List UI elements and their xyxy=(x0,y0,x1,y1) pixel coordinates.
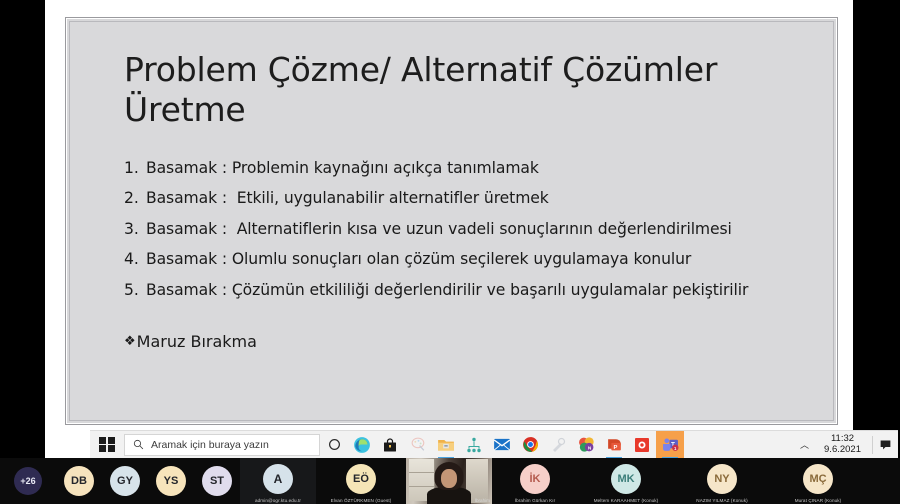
tool-icon xyxy=(550,437,566,453)
participant-name: İbrahim xyxy=(475,498,490,503)
step-text: Basamak : Problemin kaynağını açıkça tan… xyxy=(146,161,539,177)
step-text: Basamak : Olumlu sonuçları olan çözüm se… xyxy=(146,252,691,268)
powerpoint-icon: P xyxy=(606,436,623,453)
participant-tile[interactable]: NY NAZIM YILMAZ (Konuk) xyxy=(674,458,770,504)
search-placeholder: Aramak için buraya yazın xyxy=(151,439,269,451)
mail-icon xyxy=(493,437,511,452)
shared-content-stage: Problem Çözme/ Alternatif Çözümler Üretm… xyxy=(45,0,853,458)
store-icon xyxy=(382,437,398,453)
participant-name: Meltem KARAAHMET (Konuk) xyxy=(578,498,674,503)
list-item: 5. Basamak : Çözümün etkililiği değerlen… xyxy=(124,283,799,299)
step-number: 2. xyxy=(124,191,146,207)
step-number: 1. xyxy=(124,161,146,177)
paint-icon xyxy=(410,436,427,453)
step-number: 3. xyxy=(124,222,146,238)
tray-divider xyxy=(872,436,873,454)
participant-tile[interactable]: YS xyxy=(148,458,194,504)
notification-icon[interactable] xyxy=(879,438,892,451)
slide-content: Problem Çözme/ Alternatif Çözümler Üretm… xyxy=(69,21,834,421)
taskbar-item-recorder[interactable] xyxy=(628,431,656,459)
step-text: Basamak : Alternatiflerin kısa ve uzun v… xyxy=(146,222,732,238)
record-app-icon xyxy=(634,437,650,453)
avatar: GY xyxy=(110,466,140,496)
participant-name: Murat ÇINAR (Konuk) xyxy=(770,498,866,503)
taskbar-item-file-explorer[interactable] xyxy=(432,431,460,459)
slide-footer-item: ❖ Maruz Bırakma xyxy=(124,332,799,351)
avatar: EÖ xyxy=(346,464,376,494)
step-number: 5. xyxy=(124,283,146,299)
participant-tile[interactable]: İK İbrahim Gürkan Kır xyxy=(492,458,578,504)
taskbar-item-org-chart[interactable] xyxy=(460,431,488,459)
list-item: 3. Basamak : Alternatiflerin kısa ve uzu… xyxy=(124,222,799,238)
org-chart-icon xyxy=(466,437,482,453)
clock-date: 9.6.2021 xyxy=(824,445,861,456)
cortana-icon xyxy=(328,438,341,451)
participant-name: İbrahim Gürkan Kır xyxy=(492,498,578,503)
participant-tile[interactable]: GY xyxy=(102,458,148,504)
start-button[interactable] xyxy=(90,431,124,459)
diamond-bullet-icon: ❖ xyxy=(124,335,136,348)
windows-logo-icon xyxy=(99,437,115,453)
teams-icon: T 1 xyxy=(662,436,679,453)
clock-time: 11:32 xyxy=(824,434,861,445)
onenote-icon: N xyxy=(578,436,595,453)
taskbar-item-powerpoint[interactable]: P xyxy=(600,431,628,459)
edge-icon xyxy=(353,436,371,454)
participant-name: Elvan ÖZTÜRKMEN (Guest) xyxy=(316,498,406,503)
taskbar-item-teams[interactable]: T 1 xyxy=(656,431,684,459)
taskbar-item-mail[interactable] xyxy=(488,431,516,459)
participant-tile[interactable]: A admin@ogr.ktu.edu.tr xyxy=(240,458,316,504)
avatar: MÇ xyxy=(803,464,833,494)
clock[interactable]: 11:32 9.6.2021 xyxy=(819,434,866,455)
powerpoint-slide[interactable]: Problem Çözme/ Alternatif Çözümler Üretm… xyxy=(65,17,838,425)
taskbar-item-chrome[interactable] xyxy=(516,431,544,459)
taskbar-item-tool[interactable] xyxy=(544,431,572,459)
slide-step-list: 1. Basamak : Problemin kaynağını açıkça … xyxy=(124,161,799,299)
slide-footer-text: Maruz Bırakma xyxy=(137,332,257,351)
participant-name: NAZIM YILMAZ (Konuk) xyxy=(674,498,770,503)
svg-text:P: P xyxy=(613,445,617,451)
taskbar-item-onenote[interactable]: N xyxy=(572,431,600,459)
participant-tile[interactable]: DB xyxy=(56,458,102,504)
avatar: +26 xyxy=(14,467,42,495)
avatar: DB xyxy=(64,466,94,496)
system-tray: ︿ 11:32 9.6.2021 xyxy=(796,431,898,459)
step-text: Basamak : Etkili, uygulanabilir alternat… xyxy=(146,191,549,207)
avatar: A xyxy=(263,464,293,494)
list-item: 2. Basamak : Etkili, uygulanabilir alter… xyxy=(124,191,799,207)
participant-strip: +26 DB GY YS ST A admin@ogr.ktu.edu.tr E… xyxy=(0,458,900,504)
video-person-face xyxy=(441,469,457,488)
participant-video-tile[interactable]: İbrahim xyxy=(406,458,492,504)
avatar: NY xyxy=(707,464,737,494)
taskbar-item-store[interactable] xyxy=(376,431,404,459)
list-item: 4. Basamak : Olumlu sonuçları olan çözüm… xyxy=(124,252,799,268)
svg-text:N: N xyxy=(587,445,591,451)
avatar: MK xyxy=(611,464,641,494)
teams-meeting-screen: Problem Çözme/ Alternatif Çözümler Üretm… xyxy=(0,0,900,504)
taskbar-item-paint3d[interactable] xyxy=(404,431,432,459)
participant-tile[interactable]: MÇ Murat ÇINAR (Konuk) xyxy=(770,458,866,504)
list-item: 1. Basamak : Problemin kaynağını açıkça … xyxy=(124,161,799,177)
participant-tile[interactable]: ST xyxy=(194,458,240,504)
participant-tile[interactable]: MK Meltem KARAAHMET (Konuk) xyxy=(578,458,674,504)
cortana-button[interactable] xyxy=(320,431,348,459)
participant-tile[interactable]: EÖ Elvan ÖZTÜRKMEN (Guest) xyxy=(316,458,406,504)
taskbar-item-edge[interactable] xyxy=(348,431,376,459)
avatar: İK xyxy=(520,464,550,494)
chrome-icon xyxy=(522,436,539,453)
file-explorer-icon xyxy=(437,437,455,453)
participant-overflow[interactable]: +26 xyxy=(0,458,56,504)
search-icon xyxy=(133,439,144,450)
participant-name: admin@ogr.ktu.edu.tr xyxy=(240,498,316,503)
avatar: ST xyxy=(202,466,232,496)
windows-taskbar: Aramak için buraya yazın xyxy=(90,430,898,458)
search-input[interactable]: Aramak için buraya yazın xyxy=(124,434,320,456)
chevron-up-icon[interactable]: ︿ xyxy=(796,438,813,451)
avatar: YS xyxy=(156,466,186,496)
step-number: 4. xyxy=(124,252,146,268)
slide-title: Problem Çözme/ Alternatif Çözümler Üretm… xyxy=(124,50,799,131)
step-text: Basamak : Çözümün etkililiği değerlendir… xyxy=(146,283,748,299)
